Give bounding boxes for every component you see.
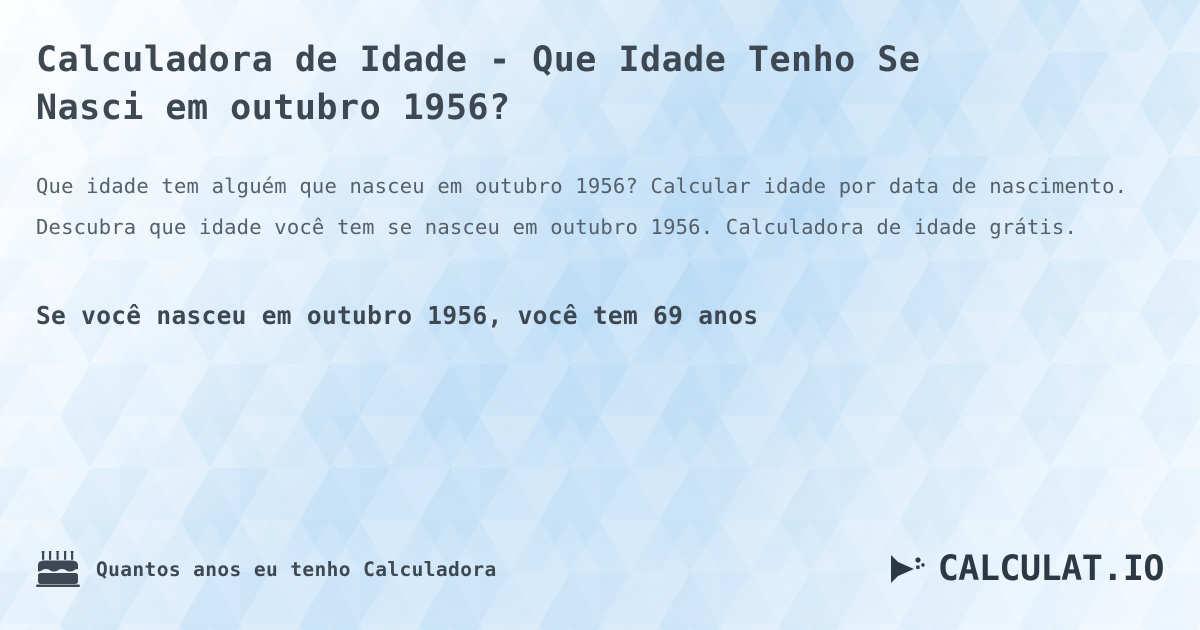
calculatio-logo-icon (888, 552, 928, 586)
birthday-cake-icon (36, 551, 80, 587)
page-title: Calculadora de Idade - Que Idade Tenho S… (36, 36, 1036, 132)
footer-brand-left: Quantos anos eu tenho Calculadora (36, 551, 497, 587)
footer-label: Quantos anos eu tenho Calculadora (96, 558, 497, 581)
footer-brand-right: CALCULAT.IO (888, 549, 1164, 589)
footer: Quantos anos eu tenho Calculadora CALCUL… (36, 546, 1164, 592)
age-answer: Se você nasceu em outubro 1956, você tem… (36, 294, 1096, 337)
content-card: Calculadora de Idade - Que Idade Tenho S… (0, 0, 1200, 630)
brand-wordmark: CALCULAT.IO (938, 549, 1164, 589)
page-intro: Que idade tem alguém que nasceu em outub… (36, 166, 1146, 248)
